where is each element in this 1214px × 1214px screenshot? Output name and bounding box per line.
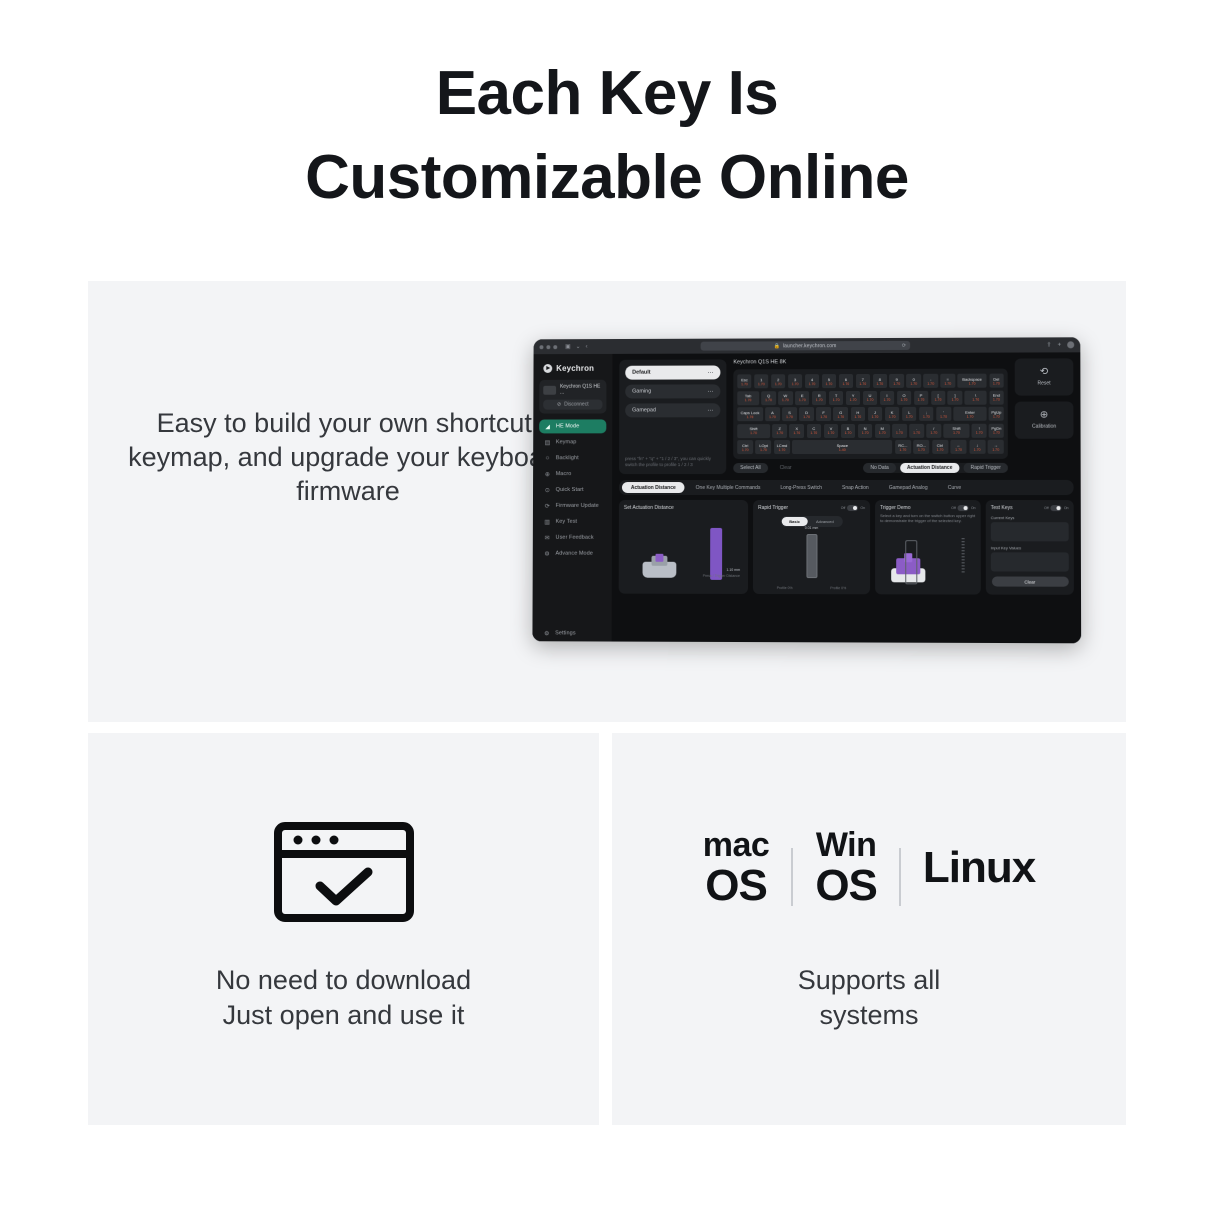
segment-advanced[interactable]: Advanced [808,517,842,526]
key-value: 1.70 [793,431,800,435]
panel-test-keys: Test Keys Off On Current Keys Input Key … [986,500,1074,595]
keychron-logo-icon [543,364,552,373]
sidebar-item-label: Keymap [556,439,577,445]
key-end[interactable]: End1.70 [989,390,1004,404]
page-title-line-1: Each Key Is [436,59,779,128]
browser-url-bar[interactable]: 🔒 launcher.keychron.com ⟳ [701,341,911,351]
key--[interactable]: ;1.70 [919,407,934,421]
key-c[interactable]: C1.70 [807,424,822,438]
sidebar-icon[interactable]: ▣ [565,344,571,350]
key-del[interactable]: Del1.70 [989,374,1004,388]
key-value: 1.70 [862,431,869,435]
rapid-trigger-slider[interactable] [806,534,817,578]
key-m[interactable]: M1.70 [875,423,890,437]
page-title: Each Key Is Customizable Online [0,52,1214,220]
key--[interactable]: \1.70 [965,390,987,404]
rapid-foot-left: Profile 0% [777,586,793,590]
key-value: 1.70 [850,398,857,402]
key-value: 1.70 [901,398,908,402]
key--[interactable]: ↓1.70 [969,440,985,454]
key-h[interactable]: H1.70 [851,407,866,421]
sidebar-item-settings[interactable]: ⚙ Settings [538,625,605,641]
rapid-trigger-chip[interactable]: Rapid Trigger [963,463,1007,473]
key-4[interactable]: 41.70 [805,374,819,388]
more-icon[interactable]: ⋯ [708,369,714,376]
key-value: 1.40 [839,447,846,451]
key-u[interactable]: U1.70 [863,390,877,404]
key-k[interactable]: K1.70 [885,407,900,421]
trigger-demo-toggle[interactable] [958,505,969,511]
key-value: 1.70 [775,382,782,386]
key-value: 1.70 [930,431,937,435]
tab-long-press-switch[interactable]: Long-Press Switch [771,482,831,493]
sidebar-item-keymap[interactable]: ▤ Keymap [539,435,606,449]
key-r[interactable]: R1.70 [812,391,826,405]
gear-icon: ⚙ [543,630,550,637]
key-value: 1.70 [935,398,942,402]
key-value: 1.70 [809,382,816,386]
app-main: Default ⋯ Gaming ⋯ Gamepad ⋯ pr [612,352,1082,643]
key-shift[interactable]: Shift1.70 [944,423,970,437]
key-f[interactable]: F1.70 [816,407,831,421]
key-value: 1.70 [776,431,783,435]
key-value: 1.70 [937,447,944,451]
actuation-distance-chip[interactable]: Actuation Distance [900,463,960,473]
key-d[interactable]: D1.70 [799,407,814,421]
key-ctrl[interactable]: Ctrl1.70 [932,440,948,454]
key-value: 1.70 [893,381,900,385]
trigger-demo-toggle-row[interactable]: Off On [951,505,975,511]
key-value: 1.70 [750,431,757,435]
test-keys-toggle-row[interactable]: Off On [1044,505,1069,511]
divider [899,848,901,906]
keyboard-controls: Select All Clear No Data Actuation Dista… [733,463,1008,473]
key-value: 1.70 [913,431,920,435]
app-body: Keychron Keychron Q1S HE ... ⊘ Disconnec… [532,352,1081,643]
page-title-line-2: Customizable Online [0,136,1214,220]
key-value: 1.70 [803,415,810,419]
window-controls[interactable] [539,345,557,349]
key-value: 1.70 [993,414,1000,418]
disconnect-label: Disconnect [564,402,588,408]
key-value: 1.70 [896,431,903,435]
more-icon[interactable]: ⋯ [707,388,713,395]
switch-illustration [643,552,677,578]
rapid-foot-right: Profile 0% [830,586,846,590]
card-caption: Supports all systems [612,963,1126,1033]
key-rc-[interactable]: RC...1.70 [895,440,911,454]
panel-set-actuation-distance: Set Actuation Distance 1.10 mm Press / T… [619,500,748,594]
key--[interactable]: -1.70 [923,374,938,388]
page-root: Each Key Is Customizable Online Easy to … [0,0,1214,1214]
device-thumbnail-icon [543,385,556,394]
key--[interactable]: [1.70 [931,390,946,404]
key-test-icon: ▥ [544,518,551,525]
key-7[interactable]: 71.70 [856,374,870,388]
key-value: 1.70 [944,381,951,385]
side-buttons: ⟲ Reset ⊕ Calibration [1015,358,1074,474]
key--[interactable]: '1.70 [936,407,951,421]
brand: Keychron [539,361,606,380]
toggle-off-label: Off [1044,506,1049,510]
key-value: 1.70 [967,414,974,418]
key-lopt[interactable]: LOpt1.70 [756,440,772,454]
key-3[interactable]: 31.70 [788,374,802,388]
key-w[interactable]: W1.70 [778,391,792,405]
rapid-trigger-value: 0.01 mm [805,526,819,530]
caption-line-2: Just open and use it [223,1000,465,1030]
key--[interactable]: ←1.70 [950,440,966,454]
feature-card-no-download: No need to download Just open and use it [88,733,599,1125]
tabs-icon[interactable] [1067,341,1074,348]
key-value: 1.70 [799,398,806,402]
keyboard-panel: Keychron Q1S HE 8K Esc1.7011.7021.7031.7… [733,359,1008,474]
calibration-label: Calibration [1032,424,1056,430]
key--[interactable]: /1.70 [926,423,941,437]
sidebar-nav: ◢ HE Mode ▤ Keymap ☼ Backlight ⊕ [539,419,607,560]
key-n[interactable]: N1.70 [858,423,873,437]
winos-bottom: OS [815,864,877,908]
panel-title: Set Actuation Distance [624,505,743,511]
sidebar-item-key-test[interactable]: ▥ Key Test [539,515,606,529]
caption-line-1: No need to download [216,965,471,995]
profile-hint: press "fn" + "q" + "1 / 2 / 3", you can … [625,456,720,468]
caption-line-1: Supports all [798,965,941,995]
key-e[interactable]: E1.70 [795,391,809,405]
profile-panel: Default ⋯ Gaming ⋯ Gamepad ⋯ pr [619,359,726,474]
key-value: 1.70 [993,381,1000,385]
caption-line-2: systems [819,1000,918,1030]
key-value: 1.70 [826,382,833,386]
key-value: 1.70 [782,398,789,402]
key-value: 1.70 [992,447,999,451]
keymap-icon: ▤ [544,439,551,446]
sidebar-item-label: Firmware Update [556,503,599,509]
clear-keys-button[interactable]: Clear [991,576,1068,586]
toggle-off-label: Off [951,506,956,510]
key-p[interactable]: P1.70 [914,390,929,404]
panel-rapid-trigger: Rapid Trigger Off On Basic Advanced 0.01… [753,500,870,594]
winos-top: Win [816,828,877,862]
key-g[interactable]: G1.70 [833,407,848,421]
key-ctrl[interactable]: Ctrl1.70 [737,440,753,454]
key-value: 1.70 [842,382,849,386]
select-all-button[interactable]: Select All [733,463,767,473]
key-ro-[interactable]: RO...1.70 [913,440,929,454]
key-space[interactable]: Space1.40 [792,440,892,454]
key-value: 1.70 [972,398,979,402]
rapid-trigger-toggle[interactable] [847,505,858,511]
key-9[interactable]: 91.70 [890,374,904,388]
key-y[interactable]: Y1.70 [846,391,860,405]
key-8[interactable]: 81.70 [873,374,887,388]
key-value: 1.70 [876,381,883,385]
segment-basic[interactable]: Basic [781,517,808,526]
os-logos: mac OS Win OS Linux [612,828,1126,908]
share-icon[interactable]: ⇪ [1046,341,1051,348]
feature-panels: Set Actuation Distance 1.10 mm Press / T… [619,500,1074,595]
macro-icon: ⊕ [544,471,551,478]
keyboard-row: Caps Lock1.70A1.70S1.70D1.70F1.70G1.70H1… [737,407,1003,421]
firmware-icon: ⟳ [544,502,551,509]
key-value: 1.70 [923,414,930,418]
key-5[interactable]: 51.70 [822,374,836,388]
actuation-slider[interactable] [710,528,722,580]
app-window-screenshot: ▣ ⌄ ‹ 🔒 launcher.keychron.com ⟳ ⇪ + [532,337,1081,643]
tab-actuation-distance[interactable]: Actuation Distance [622,482,685,493]
keyboard-row: Tab1.70Q1.70W1.70E1.70R1.70T1.70Y1.70U1.… [737,390,1003,405]
sidebar-item-he-mode[interactable]: ◢ HE Mode [539,419,606,433]
sidebar-item-macro[interactable]: ⊕ Macro [539,467,606,481]
key-value: 1.70 [854,414,861,418]
current-keys-field[interactable] [991,522,1069,541]
sidebar-item-firmware-update[interactable]: ⟳ Firmware Update [539,499,606,513]
key-esc[interactable]: Esc1.70 [737,374,751,388]
key-l[interactable]: L1.70 [902,407,917,421]
he-mode-icon: ◢ [544,423,551,430]
tab-curve[interactable]: Curve [939,482,971,493]
key-value: 1.70 [765,398,772,402]
key-value: 1.70 [969,381,976,385]
settings-label: Settings [555,630,575,636]
sidebar-item-label: User Feedback [556,535,594,541]
profile-item-default[interactable]: Default ⋯ [625,365,720,379]
rapid-trigger-toggle-row[interactable]: Off On [841,505,865,511]
key--[interactable]: →1.70 [988,440,1004,454]
key-value: 1.70 [940,414,947,418]
refresh-icon[interactable]: ⟳ [902,342,906,348]
more-icon[interactable]: ⋯ [707,407,713,414]
macos-bottom: OS [705,864,767,908]
key-value: 1.70 [879,431,886,435]
no-data-chip[interactable]: No Data [863,463,895,473]
os-logo-winos: Win OS [815,828,877,908]
os-logo-macos: mac OS [703,828,770,908]
key-value: 1.70 [859,381,866,385]
back-chevron-icon[interactable]: ‹ [586,344,588,350]
key-value: 1.70 [828,431,835,435]
reset-label: Reset [1037,380,1050,386]
chevron-down-icon[interactable]: ⌄ [576,344,581,350]
feature-tabs: Actuation DistanceOne Key Multiple Comma… [619,480,1074,495]
profile-label: Default [632,370,650,376]
tab-one-key-multiple-commands[interactable]: One Key Multiple Commands [687,482,770,493]
reset-button[interactable]: ⟲ Reset [1015,358,1074,395]
current-keys-label: Current Keys [991,515,1069,520]
key-value: 1.70 [760,448,767,452]
key--[interactable]: ,1.70 [892,423,907,437]
lock-icon: 🔒 [774,343,780,349]
device-card: Keychron Q1S HE ... ⊘ Disconnect [539,380,606,414]
clear-button[interactable]: Clear [773,463,799,473]
minimize-icon[interactable] [546,345,550,349]
sidebar-item-label: Quick Start [556,487,584,493]
plus-icon[interactable]: + [1058,342,1062,348]
reset-icon: ⟲ [1040,367,1048,377]
key-o[interactable]: O1.70 [897,390,911,404]
key-value: 1.70 [910,381,917,385]
key-i[interactable]: I1.70 [880,390,894,404]
key-value: 1.70 [745,398,752,402]
key-t[interactable]: T1.70 [829,391,843,405]
key-x[interactable]: X1.70 [789,424,804,438]
key-value: 1.70 [769,415,776,419]
key-value: 1.70 [889,414,896,418]
calibration-icon: ⊕ [1040,411,1049,421]
key-tab[interactable]: Tab1.70 [737,391,759,405]
feature-card-launcher: Easy to build your own shortcut, keymap,… [88,281,1126,722]
key-0[interactable]: 01.70 [906,374,920,388]
profile-label: Gamepad [632,407,656,413]
key-value: 1.70 [833,398,840,402]
key-value: 1.70 [786,415,793,419]
key-value: 1.70 [952,398,959,402]
profile-label: Gaming [632,389,651,395]
key-value: 1.70 [953,431,960,435]
key-value: 1.70 [976,431,983,435]
trigger-demo-ruler [962,538,963,584]
divider [791,848,793,906]
actuation-value: 1.10 mm [726,568,740,572]
toggle-off-label: Off [841,506,846,510]
device-name: Keychron Q1S HE ... [560,384,603,396]
key--[interactable]: ↑1.70 [972,423,987,437]
key-2[interactable]: 21.70 [771,374,785,388]
sidebar-item-label: Backlight [556,455,579,461]
toggle-on-label: On [1064,506,1069,510]
close-icon[interactable] [539,345,543,349]
feedback-icon: ✉ [544,534,551,541]
brand-name: Keychron [556,364,594,373]
trigger-demo-gauge [905,540,917,584]
disconnect-icon: ⊘ [557,402,561,408]
advance-icon: ⚙ [544,550,551,557]
key-pgdn[interactable]: PgDn1.70 [989,423,1004,437]
key-value: 1.70 [918,398,925,402]
key-value: 1.70 [816,398,823,402]
key-value: 1.70 [993,431,1000,435]
keyboard-row: Shift1.70Z1.70X1.70C1.70V1.70B1.70N1.70M… [737,423,1004,437]
key-value: 1.70 [741,382,748,386]
tab-snap-action[interactable]: Snap Action [833,482,878,493]
key-backspace[interactable]: Backspace1.70 [958,374,987,388]
key-value: 1.70 [792,382,799,386]
calibration-button[interactable]: ⊕ Calibration [1015,402,1074,439]
sidebar-item-quick-start[interactable]: ⊙ Quick Start [539,483,606,497]
key-pgup[interactable]: PgUp1.70 [989,407,1004,421]
card-caption: No need to download Just open and use it [88,963,599,1033]
sidebar-item-label: Advance Mode [555,551,592,557]
backlight-icon: ☼ [544,455,551,461]
key-value: 1.70 [820,415,827,419]
key-value: 1.70 [837,415,844,419]
key-value: 1.70 [899,447,906,451]
key-value: 1.70 [918,447,925,451]
feature-description: Easy to build your own shortcut, keymap,… [108,406,588,508]
key-shift[interactable]: Shift1.70 [737,424,770,438]
key-value: 1.70 [742,448,749,452]
keyboard-title: Keychron Q1S HE 8K [733,359,1007,366]
key-value: 1.70 [872,414,879,418]
key-6[interactable]: 61.70 [839,374,853,388]
key-value: 1.70 [927,381,934,385]
key-value: 1.70 [758,382,765,386]
key-b[interactable]: B1.70 [841,423,856,437]
key-z[interactable]: Z1.70 [772,424,787,438]
feature-card-supports-all-systems: mac OS Win OS Linux Supports all systems [612,733,1126,1125]
key-value: 1.70 [747,415,754,419]
sidebar-item-label: Key Test [556,519,578,525]
test-keys-toggle[interactable] [1051,505,1062,511]
key-caps-lock[interactable]: Caps Lock1.70 [737,407,762,421]
key-lcmd[interactable]: LCmd1.70 [774,440,790,454]
key--[interactable]: .1.70 [909,423,924,437]
os-logo-linux: Linux [923,846,1035,890]
sidebar-item-advance-mode[interactable]: ⚙ Advance Mode [539,547,606,561]
key-enter[interactable]: Enter1.70 [953,407,986,421]
key-value: 1.70 [993,398,1000,402]
key-value: 1.70 [974,447,981,451]
input-key-values-label: Input Key Values [991,545,1069,550]
sidebar-item-label: HE Mode [556,423,579,429]
toggle-on-label: On [860,506,865,510]
key-s[interactable]: S1.70 [782,407,797,421]
toggle-on-label: On [971,506,976,510]
panel-trigger-demo: Trigger Demo Off On Select a key and tur… [875,500,981,595]
macos-top: mac [703,828,770,862]
keyboard-row: Ctrl1.70LOpt1.70LCmd1.70Space1.40RC...1.… [737,440,1004,454]
actuation-value-label: Press / Trigger Distance [703,574,740,578]
key-j[interactable]: J1.70 [868,407,883,421]
profile-item-gamepad[interactable]: Gamepad ⋯ [625,403,720,417]
key-q[interactable]: Q1.70 [761,391,775,405]
quick-start-icon: ⊙ [544,487,551,494]
key--[interactable]: ]1.70 [948,390,963,404]
profile-item-gaming[interactable]: Gaming ⋯ [625,384,720,398]
browser-url-text: launcher.keychron.com [783,343,836,349]
key-a[interactable]: A1.70 [765,407,780,421]
key-value: 1.70 [810,431,817,435]
maximize-icon[interactable] [553,345,557,349]
key-v[interactable]: V1.70 [824,424,839,438]
app-sidebar: Keychron Keychron Q1S HE ... ⊘ Disconnec… [532,354,612,642]
keyboard-row: Esc1.7011.7021.7031.7041.7051.7061.7071.… [737,374,1003,389]
key-value: 1.70 [779,448,786,452]
key-value: 1.70 [906,414,913,418]
disconnect-button[interactable]: ⊘ Disconnect [543,400,602,410]
linux-label: Linux [923,846,1035,890]
key-value: 1.70 [845,431,852,435]
sidebar-item-backlight[interactable]: ☼ Backlight [539,451,606,465]
keyboard-layout[interactable]: Esc1.7011.7021.7031.7041.7051.7061.7071.… [733,369,1008,459]
sidebar-item-label: Macro [556,471,572,477]
key-value: 1.70 [884,398,891,402]
tab-gamepad-analog[interactable]: Gamepad Analog [880,482,937,493]
key-1[interactable]: 11.70 [754,374,768,388]
key-value: 1.70 [867,398,874,402]
key-value: 1.70 [955,447,962,451]
browser-check-icon [274,822,414,927]
input-key-values-field[interactable] [991,552,1069,571]
trigger-demo-description: Select a key and turn on the switch butt… [880,513,976,523]
sidebar-item-user-feedback[interactable]: ✉ User Feedback [539,531,606,545]
key--[interactable]: =1.70 [940,374,955,388]
